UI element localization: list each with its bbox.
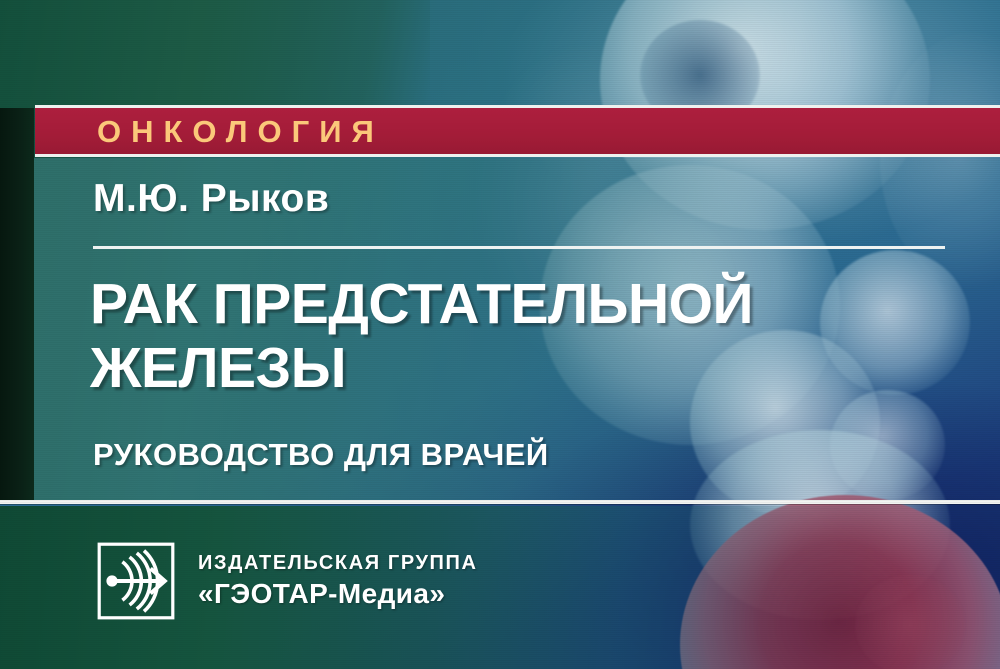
book-cover: ОНКОЛОГИЯ М.Ю. Рыков РАК ПРЕДСТАТЕЛЬНОЙ … bbox=[0, 0, 1000, 669]
publisher-text: ИЗДАТЕЛЬСКАЯ ГРУППА «ГЭОТАР-Медиа» bbox=[198, 552, 478, 611]
publisher-group-label: ИЗДАТЕЛЬСКАЯ ГРУППА bbox=[198, 552, 478, 576]
book-subtitle: РУКОВОДСТВО ДЛЯ ВРАЧЕЙ bbox=[93, 437, 549, 473]
publisher-name: «ГЭОТАР-Медиа» bbox=[198, 577, 478, 610]
publisher-block: ИЗДАТЕЛЬСКАЯ ГРУППА «ГЭОТАР-Медиа» bbox=[96, 541, 478, 621]
series-band: ОНКОЛОГИЯ bbox=[35, 105, 1000, 157]
horizontal-rule-author bbox=[93, 246, 945, 249]
geotar-radiating-arrow-icon bbox=[96, 541, 176, 621]
book-title: РАК ПРЕДСТАТЕЛЬНОЙ ЖЕЛЕЗЫ bbox=[90, 273, 950, 401]
series-label: ОНКОЛОГИЯ bbox=[97, 116, 384, 147]
author-name: М.Ю. Рыков bbox=[93, 177, 329, 221]
